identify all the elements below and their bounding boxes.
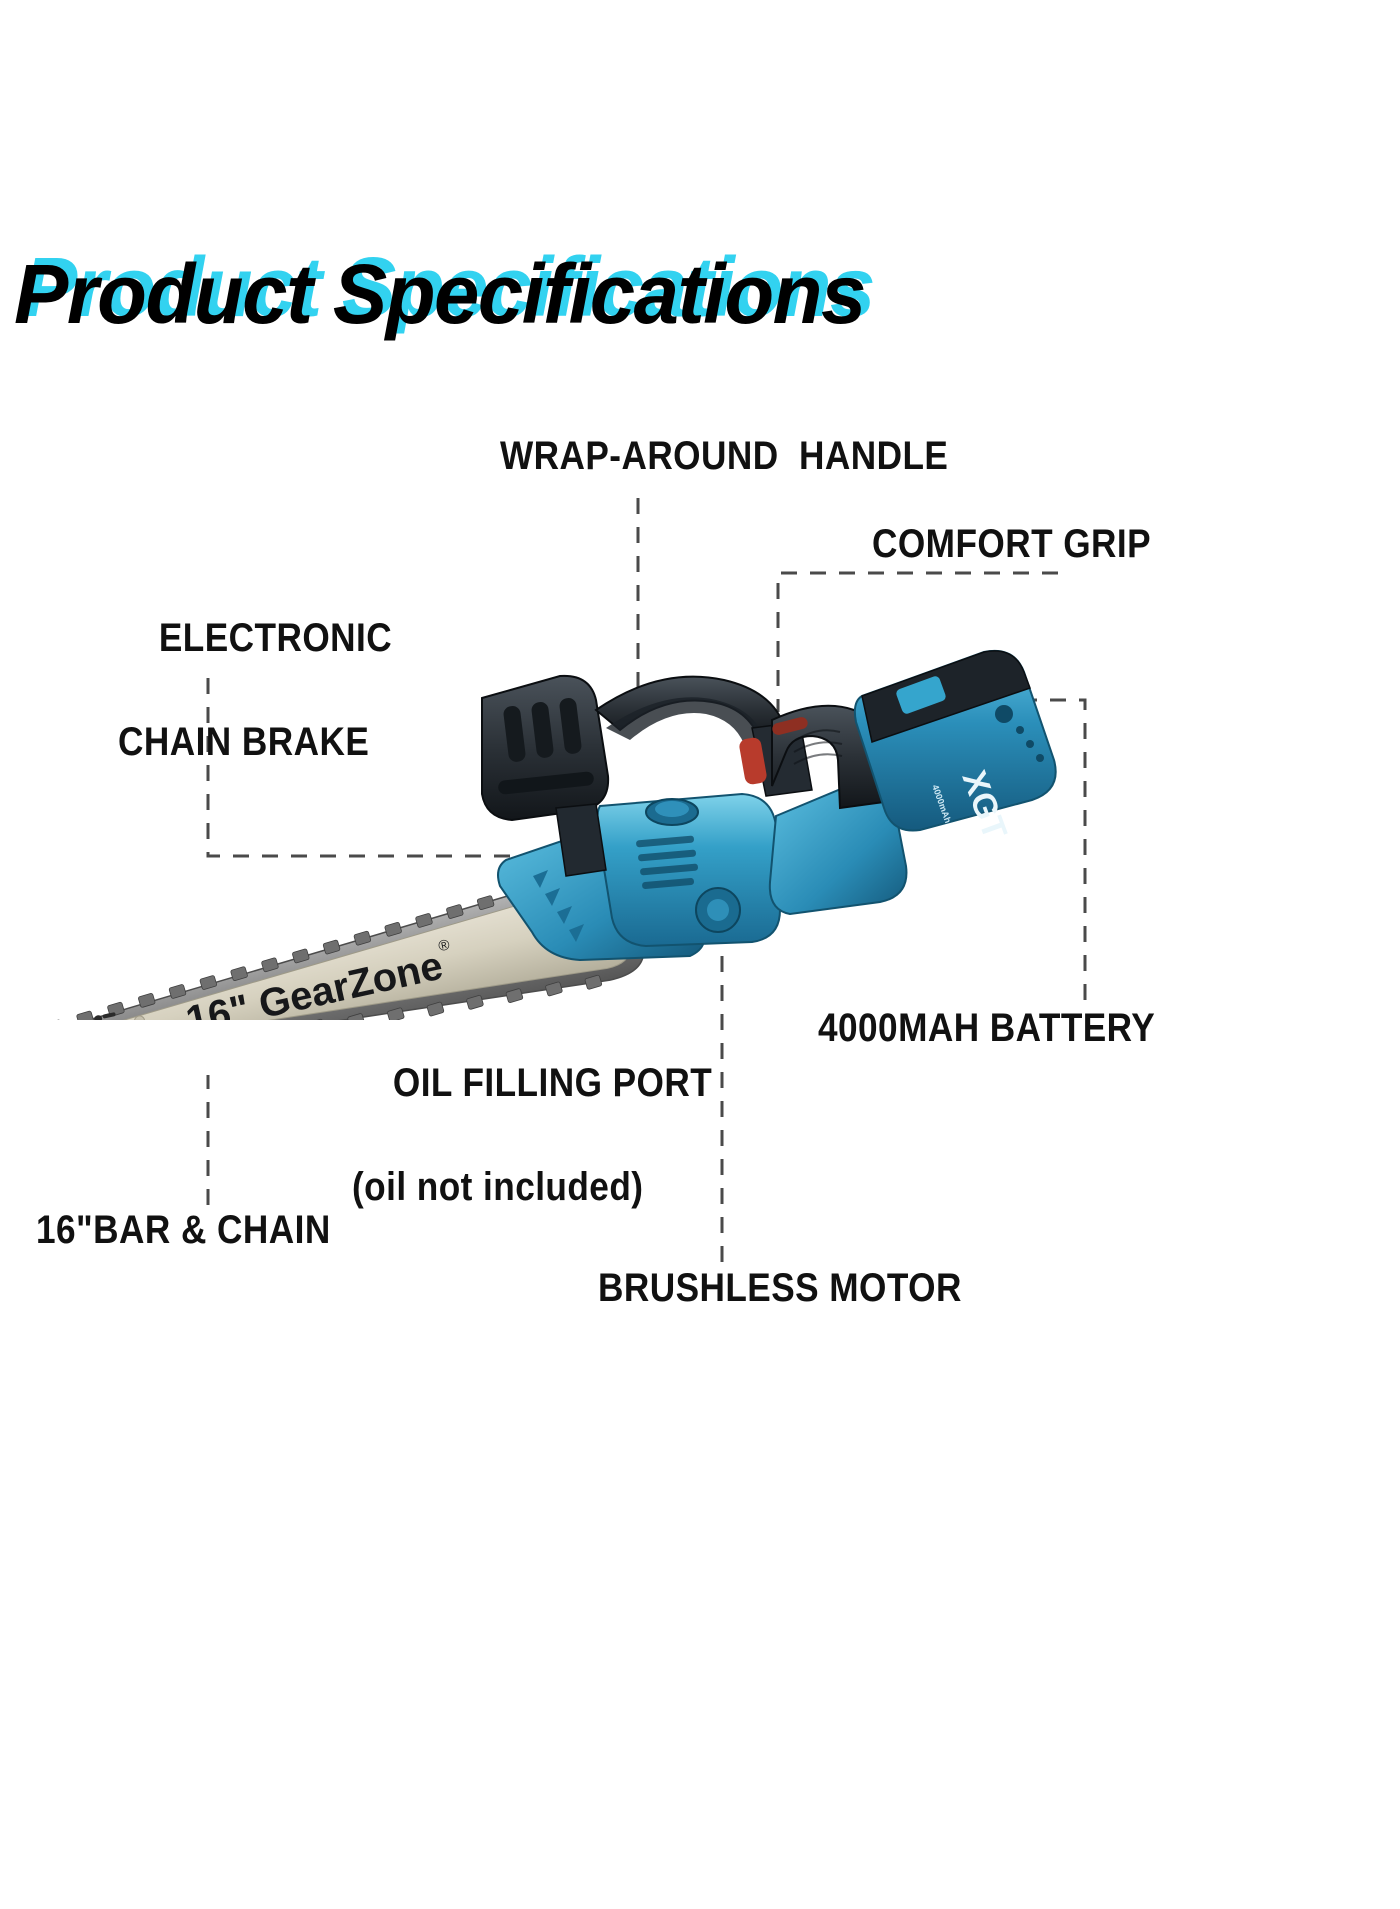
callout-brushless-motor: BRUSHLESS MOTOR (598, 1262, 962, 1314)
infographic-page: Product Specifications Product Specifica… (0, 0, 1400, 1909)
page-title: Product Specifications Product Specifica… (14, 246, 1014, 346)
callout-oil-filling-port-line1: OIL FILLING PORT (393, 1061, 712, 1105)
page-title-text: Product Specifications (14, 246, 865, 342)
callout-bar-and-chain: 16"BAR & CHAIN (36, 1204, 331, 1256)
callout-electronic-chain-brake-line1: ELECTRONIC (159, 616, 392, 660)
callout-electronic-chain-brake-line2: CHAIN BRAKE (118, 716, 392, 768)
callout-oil-filling-port-note: (oil not included) (352, 1161, 712, 1213)
callout-wrap-around-handle: WRAP-AROUND HANDLE (500, 430, 948, 482)
battery-gauge-button (995, 705, 1013, 723)
callout-comfort-grip: COMFORT GRIP (872, 518, 1151, 570)
callout-electronic-chain-brake: ELECTRONIC CHAIN BRAKE (118, 560, 392, 872)
oil-filling-port-cap (646, 799, 698, 825)
callout-battery: 4000MAH BATTERY (818, 1002, 1155, 1054)
